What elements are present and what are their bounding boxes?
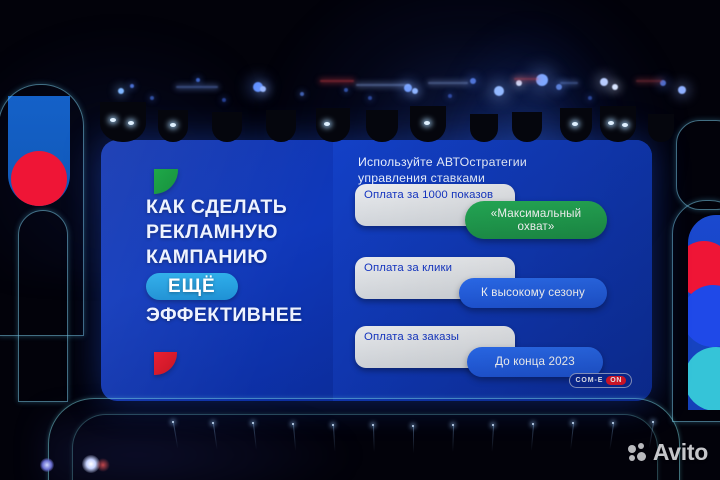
truss-light-fixture <box>612 84 618 90</box>
truss-light-bar <box>428 82 468 84</box>
truss-light-fixture <box>150 96 154 100</box>
truss-light-fixture <box>222 98 226 102</box>
truss-light-fixture <box>368 96 372 100</box>
light-lens-icon <box>170 123 176 127</box>
hanging-light-head <box>560 108 592 142</box>
hanging-light-head <box>366 110 398 142</box>
light-lens-icon <box>110 118 116 122</box>
light-lens-icon <box>128 121 134 125</box>
headline-line-3: КАМПАНИЮ <box>146 245 336 270</box>
main-presentation-screen: КАК СДЕЛАТЬ РЕКЛАМНУЮ КАМПАНИЮ ЕЩЁ ЭФФЕК… <box>101 140 652 401</box>
pricing-row: Оплата за 1000 показов CPM «Максимальный… <box>355 184 631 240</box>
truss-light-bar <box>356 84 410 86</box>
hanging-light-head <box>316 108 350 142</box>
headline-line-1: КАК СДЕЛАТЬ <box>146 195 336 220</box>
light-lens-icon <box>424 121 430 125</box>
truss-light-bar <box>320 80 354 82</box>
hanging-light-head <box>410 106 446 142</box>
truss-light-fixture <box>556 84 562 90</box>
subheading-line-2: управления ставками <box>358 171 485 185</box>
event-logo-text-left: COM-E <box>575 377 603 384</box>
truss-light-fixture <box>588 96 592 100</box>
hanging-light-head <box>266 110 296 142</box>
pricing-row-tag: «Максимальный охват» <box>465 201 607 239</box>
light-lens-icon <box>324 122 330 126</box>
hanging-light-head <box>158 110 188 142</box>
hanging-light-head <box>648 114 674 142</box>
slide-subheading: Используйте АВТОстратегии управления ста… <box>358 154 608 186</box>
truss-light-fixture <box>516 80 522 86</box>
avito-watermark: Avito <box>628 439 708 466</box>
screen-left-panel: КАК СДЕЛАТЬ РЕКЛАМНУЮ КАМПАНИЮ ЕЩЁ ЭФФЕК… <box>101 140 333 401</box>
screen-right-panel: Используйте АВТОстратегии управления ста… <box>333 140 652 401</box>
avito-wordmark: Avito <box>653 439 708 466</box>
truss-light-fixture <box>600 78 608 86</box>
truss-light-fixture <box>344 88 348 92</box>
pricing-card-title: Оплата за заказы <box>364 331 506 343</box>
light-lens-icon <box>572 122 578 126</box>
slide-headline: КАК СДЕЛАТЬ РЕКЛАМНУЮ КАМПАНИЮ ЕЩЁ ЭФФЕК… <box>146 195 336 328</box>
truss-light-bar <box>514 78 538 80</box>
truss-light-bar <box>176 86 218 88</box>
side-panel-outline-left-inner <box>18 210 68 402</box>
floor-lamp-red-glow <box>96 458 110 472</box>
truss-light-fixture <box>678 86 686 94</box>
hanging-light-head <box>470 114 498 142</box>
truss-light-fixture <box>130 84 134 88</box>
stage-edge-light-beam <box>413 427 414 453</box>
truss-light-fixture <box>300 92 304 96</box>
side-panel-outline-right <box>672 200 720 422</box>
decor-green-corner-shape <box>154 169 178 194</box>
hanging-light-head <box>212 112 242 142</box>
pricing-row-tag: К высокому сезону <box>459 278 607 308</box>
truss-light-bar <box>560 82 578 84</box>
truss-light-fixture <box>118 88 124 94</box>
pricing-card-title: Оплата за клики <box>364 262 506 274</box>
truss-light-fixture <box>494 86 504 96</box>
truss-light-fixture <box>536 74 548 86</box>
subheading-line-1: Используйте АВТОстратегии <box>358 155 527 169</box>
decor-red-corner-shape <box>154 352 177 375</box>
truss-light-fixture <box>196 78 200 82</box>
truss-light-fixture <box>260 86 266 92</box>
headline-line-2: РЕКЛАМНУЮ <box>146 220 336 245</box>
light-lens-icon <box>622 123 628 127</box>
truss-light-fixture <box>412 88 418 94</box>
light-lens-icon <box>608 121 614 125</box>
avito-dots-icon <box>628 443 648 463</box>
side-panel-outline-right-upper <box>676 120 720 210</box>
event-logo-text-right: ON <box>606 376 626 385</box>
hanging-light-head <box>100 102 146 142</box>
stage-scene: КАК СДЕЛАТЬ РЕКЛАМНУЮ КАМПАНИЮ ЕЩЁ ЭФФЕК… <box>0 0 720 480</box>
pricing-card-title: Оплата за 1000 показов <box>364 189 506 201</box>
headline-line-4: ЭФФЕКТИВНЕЕ <box>146 303 336 328</box>
hanging-light-head <box>600 106 636 142</box>
pricing-row: Оплата за клики CPC К высокому сезону <box>355 257 631 313</box>
hanging-light-head <box>512 112 542 142</box>
truss-light-fixture <box>448 94 452 98</box>
floor-lamp-left <box>40 458 54 472</box>
event-logo-badge: COM-E ON <box>569 373 632 388</box>
truss-light-fixture <box>470 78 476 84</box>
headline-highlight-pill: ЕЩЁ <box>146 273 238 300</box>
truss-light-bar <box>636 80 662 82</box>
